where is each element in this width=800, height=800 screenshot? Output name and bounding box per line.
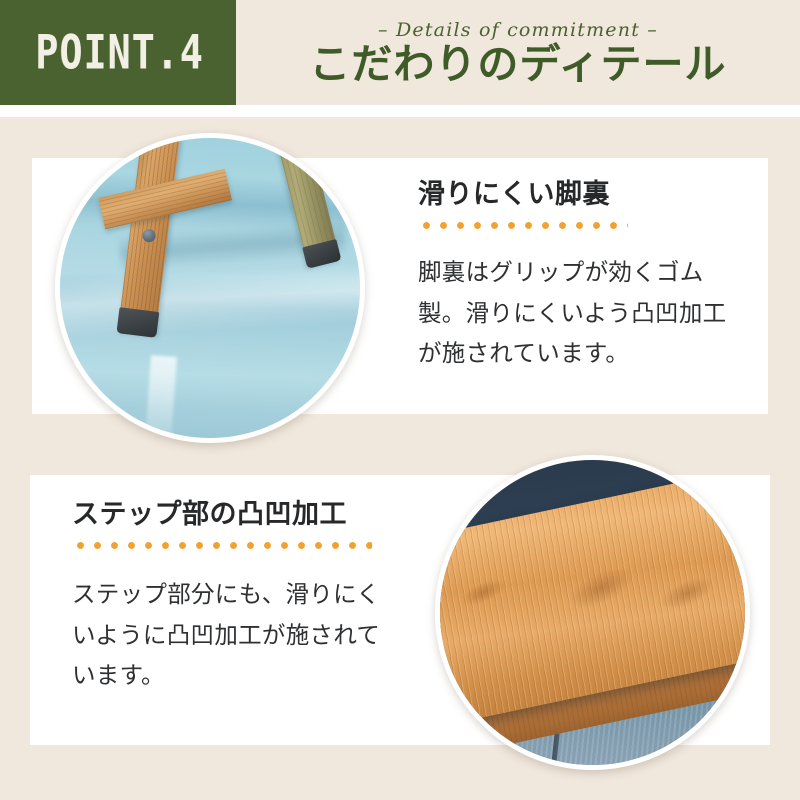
page-title: こだわりのディテール <box>309 43 726 86</box>
point-badge: POINT.4 <box>0 0 236 105</box>
wood-grain-knot <box>563 560 639 616</box>
photo-non-slip-feet-content <box>60 138 360 438</box>
header-divider-strip <box>0 105 800 117</box>
photo-non-slip-feet <box>55 133 365 443</box>
rear-leg-rivet <box>296 137 307 148</box>
wood-grain-knot <box>458 573 510 611</box>
section-heading-step-texture: ステップ部の凸凹加工 <box>72 498 402 530</box>
wood-grain-knot <box>656 570 719 616</box>
section-heading-non-slip-feet: 滑りにくい脚裏 <box>418 178 738 210</box>
section-body-step-texture: ステップ部分にも、滑りにくいように凸凹加工が施されています。 <box>72 574 402 695</box>
header-eyebrow: – Details of commitment – <box>378 19 658 41</box>
text-panel-step-texture: ステップ部の凸凹加工 ステップ部分にも、滑りにくいように凸凹加工が施されています… <box>72 498 402 696</box>
header-text-group: – Details of commitment – こだわりのディテール <box>236 0 800 105</box>
section-body-non-slip-feet: 脚裏はグリップが効くゴム製。滑りにくいよう凸凹加工が施されています。 <box>418 252 738 373</box>
page-header: POINT.4 – Details of commitment – こだわりのデ… <box>0 0 800 105</box>
leg-rivet-lower <box>142 228 156 242</box>
photo-step-texture <box>435 455 750 770</box>
photo-step-texture-content <box>440 460 745 765</box>
point-badge-label: POINT.4 <box>32 25 204 79</box>
dotted-underline-1 <box>418 221 628 230</box>
dotted-underline-2 <box>72 541 372 550</box>
text-panel-non-slip-feet: 滑りにくい脚裏 脚裏はグリップが効くゴム製。滑りにくいよう凸凹加工が施されていま… <box>418 178 738 374</box>
